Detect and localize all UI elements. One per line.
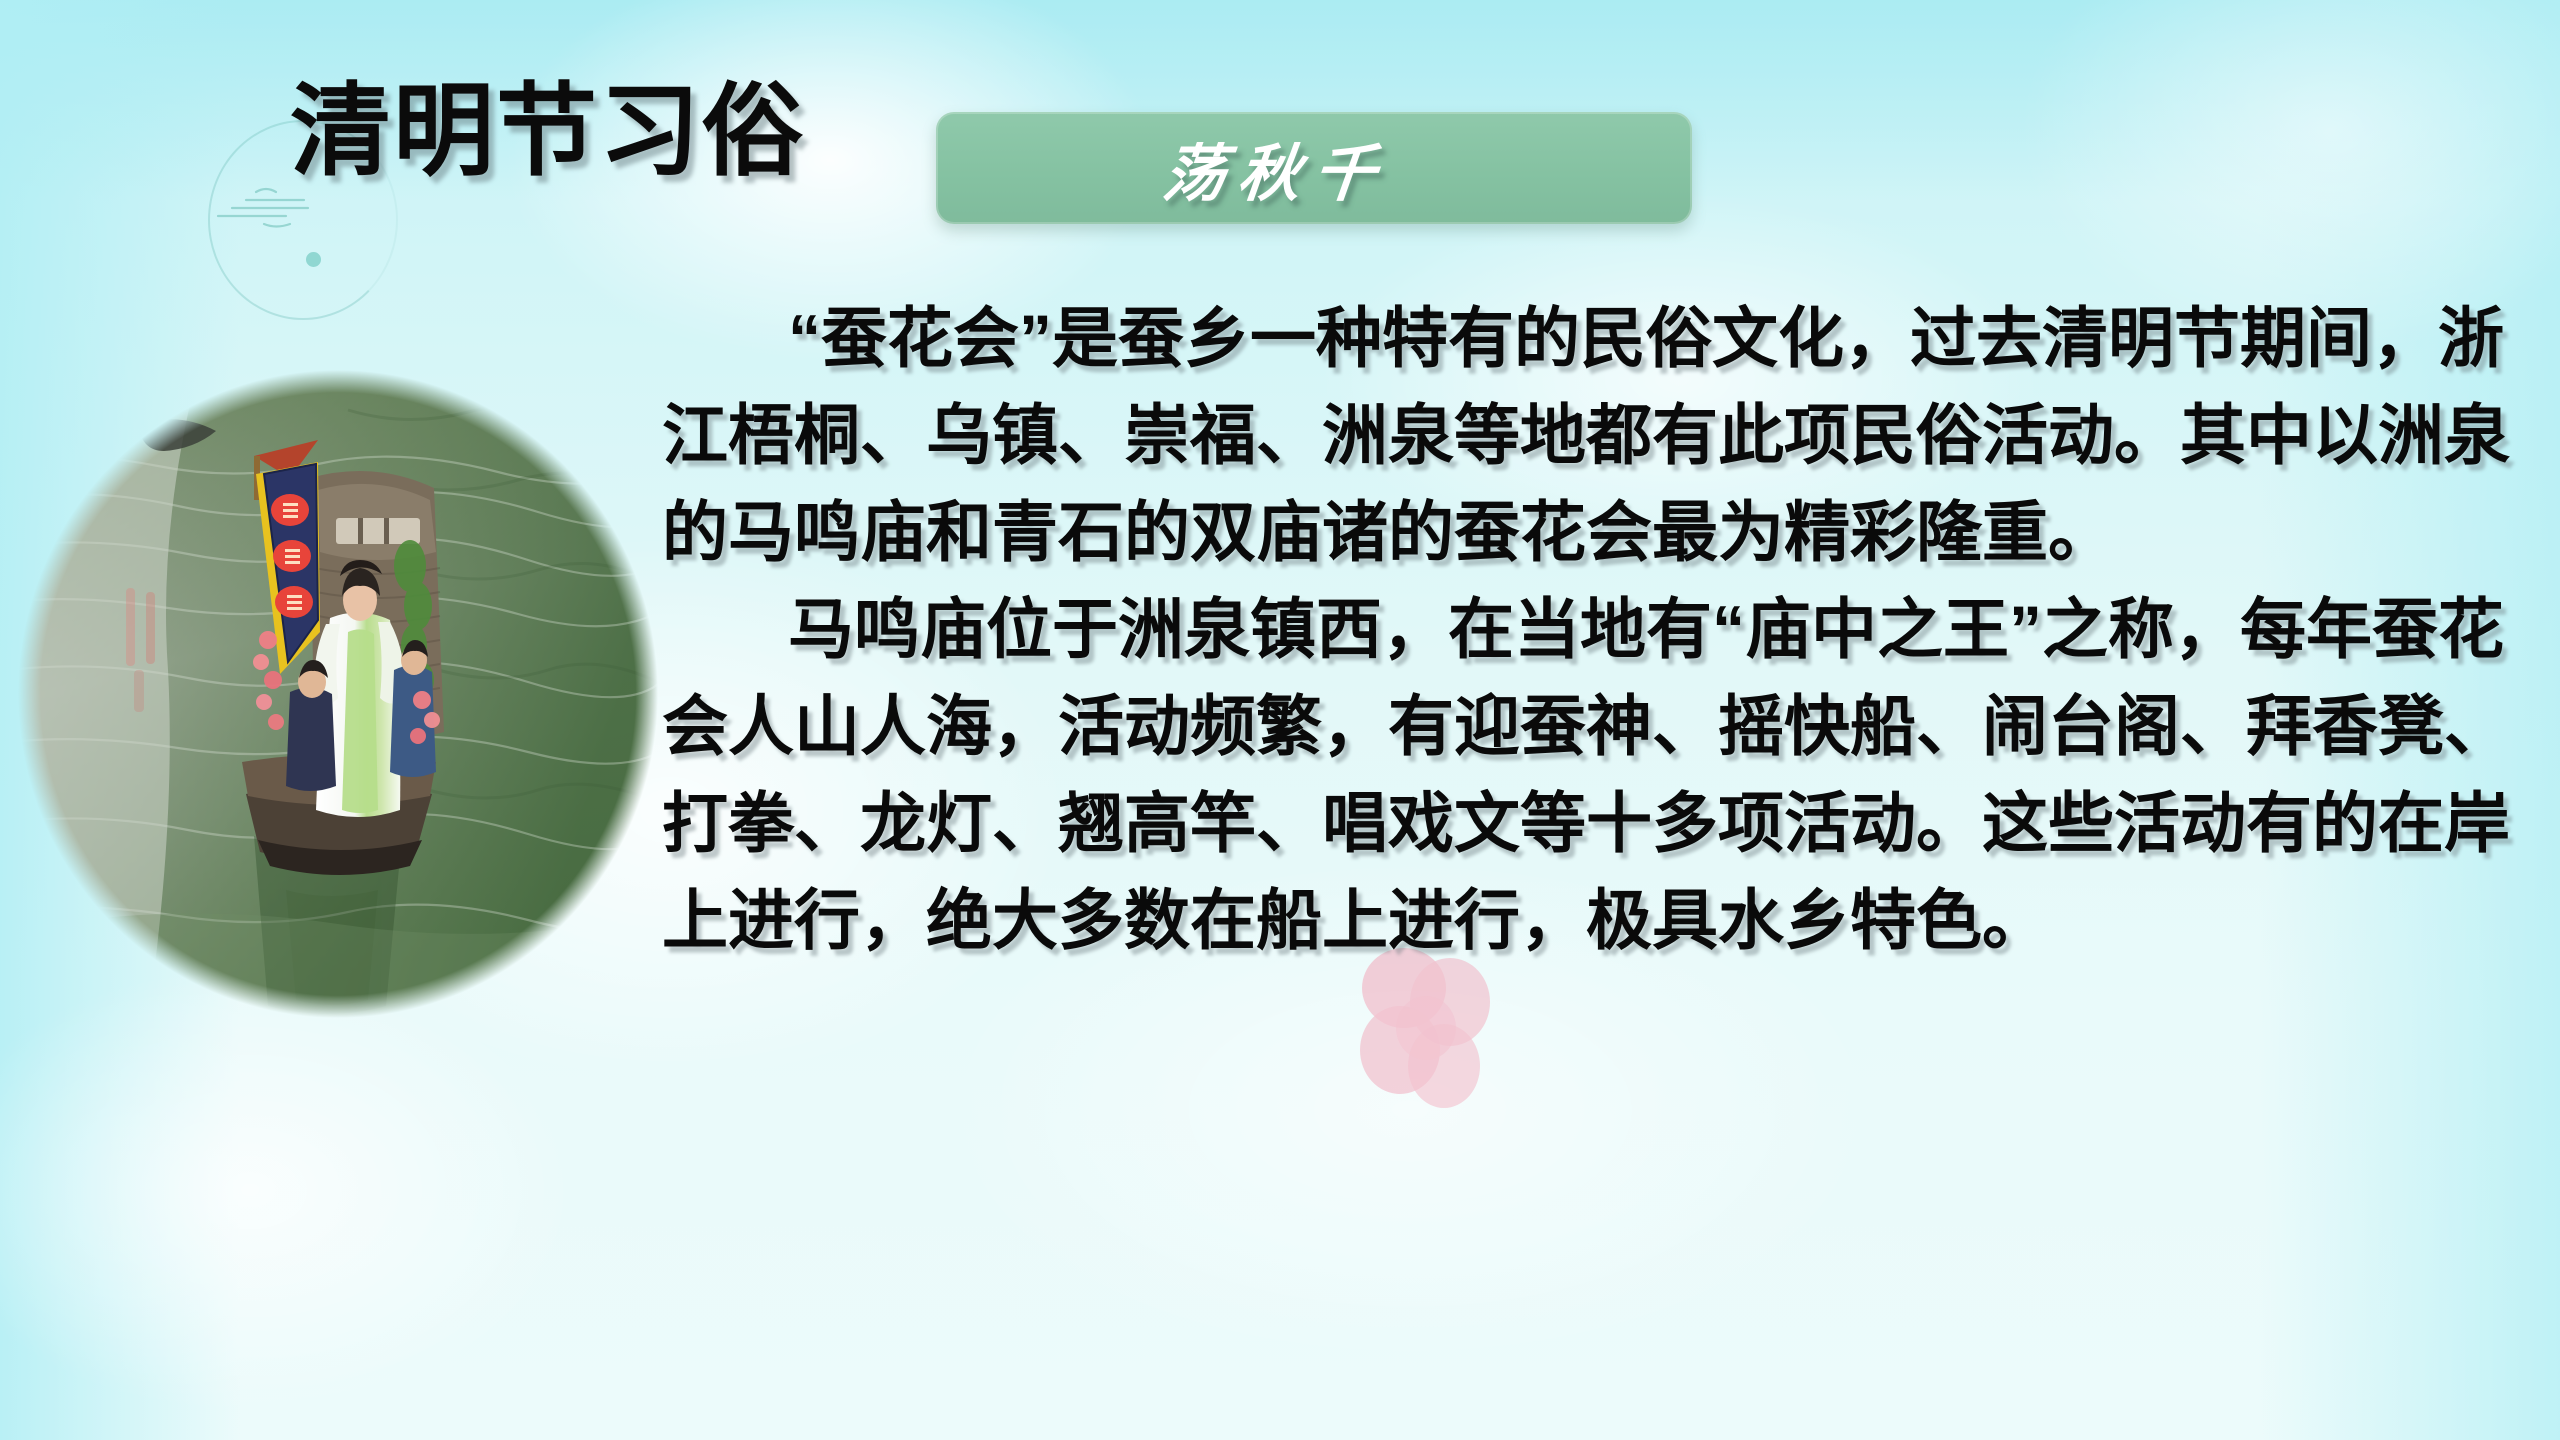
body-line: 马鸣庙位于洲泉镇西，在当地有“庙中之王”之称，每年蚕花 (662, 581, 2474, 678)
body-line: 上进行，绝大多数在船上进行，极具水乡特色。 (662, 872, 2474, 969)
slide-canvas: 清明节习俗 荡秋千 “蚕花会”是蚕乡一种特有的民俗文化，过去清明节期间，浙 江梧… (0, 0, 2560, 1440)
circle-dot-icon (306, 252, 321, 267)
page-title: 清明节习俗 (290, 82, 805, 183)
body-copy: “蚕花会”是蚕乡一种特有的民俗文化，过去清明节期间，浙 江梧桐、乌镇、崇福、洲泉… (662, 290, 2474, 969)
body-line: 会人山人海，活动频繁，有迎蚕神、摇快船、闹台阁、拜香凳、 (662, 678, 2474, 775)
decorative-photo-circle (18, 370, 658, 1018)
body-line: 打拳、龙灯、翘高竿、唱戏文等十多项活动。这些活动有的在岸 (662, 775, 2474, 872)
topic-badge[interactable]: 荡秋千 (936, 112, 1692, 224)
topic-badge-label: 荡秋千 (1146, 123, 1393, 213)
body-line: “蚕花会”是蚕乡一种特有的民俗文化，过去清明节期间，浙 (662, 290, 2474, 387)
body-line: 的马鸣庙和青石的双庙诸的蚕花会最为精彩隆重。 (662, 484, 2474, 581)
boat-festival-photo (18, 370, 658, 1018)
body-line: 江梧桐、乌镇、崇福、洲泉等地都有此项民俗活动。其中以洲泉 (662, 387, 2474, 484)
